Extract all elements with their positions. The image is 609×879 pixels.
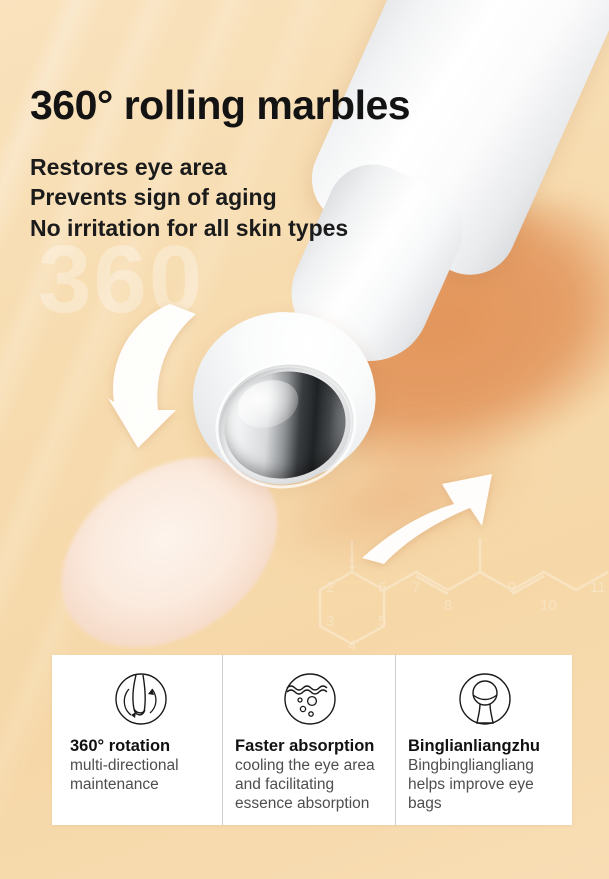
page-title: 360° rolling marbles [30, 85, 410, 126]
feature-item-rotation: 360° rotation multi-directional maintena… [52, 655, 222, 825]
feature-title: 360° rotation [70, 737, 212, 756]
svg-text:8: 8 [444, 597, 452, 614]
svg-text:4: 4 [348, 637, 356, 654]
feature-item-absorption: Faster absorption cooling the eye area a… [222, 655, 395, 825]
svg-text:9: 9 [508, 579, 516, 596]
roller-ball-icon [455, 669, 515, 729]
svg-text:11: 11 [590, 579, 606, 596]
feature-title: Faster absorption [235, 737, 385, 756]
curved-arrow-right-icon [358, 440, 498, 565]
product-ad-image: 360 2 3 1 6 5 4 7 8 9 10 11 [0, 0, 609, 879]
svg-text:10: 10 [540, 597, 557, 614]
subtitle-line-1: Restores eye area [30, 152, 348, 182]
svg-text:5: 5 [378, 613, 386, 630]
feature-title: Binglianliangzhu [408, 737, 562, 756]
water-bubbles-icon [280, 669, 340, 729]
feature-description: multi-directional maintenance [70, 757, 212, 795]
subtitle-list: Restores eye area Prevents sign of aging… [30, 152, 348, 243]
feature-panel: 360° rotation multi-directional maintena… [52, 655, 572, 825]
svg-text:7: 7 [412, 579, 420, 596]
rotation-roller-icon [111, 669, 171, 729]
svg-text:6: 6 [378, 579, 386, 596]
svg-text:3: 3 [326, 613, 334, 630]
feature-description: cooling the eye area and facilitating es… [235, 757, 385, 814]
subtitle-line-2: Prevents sign of aging [30, 182, 348, 212]
subtitle-line-3: No irritation for all skin types [30, 213, 348, 243]
feature-description: Bingbingliangliang helps improve eye bag… [408, 757, 562, 814]
curved-arrow-left-icon [100, 298, 225, 463]
feature-item-cooling: Binglianliangzhu Bingbingliangliang help… [395, 655, 572, 825]
